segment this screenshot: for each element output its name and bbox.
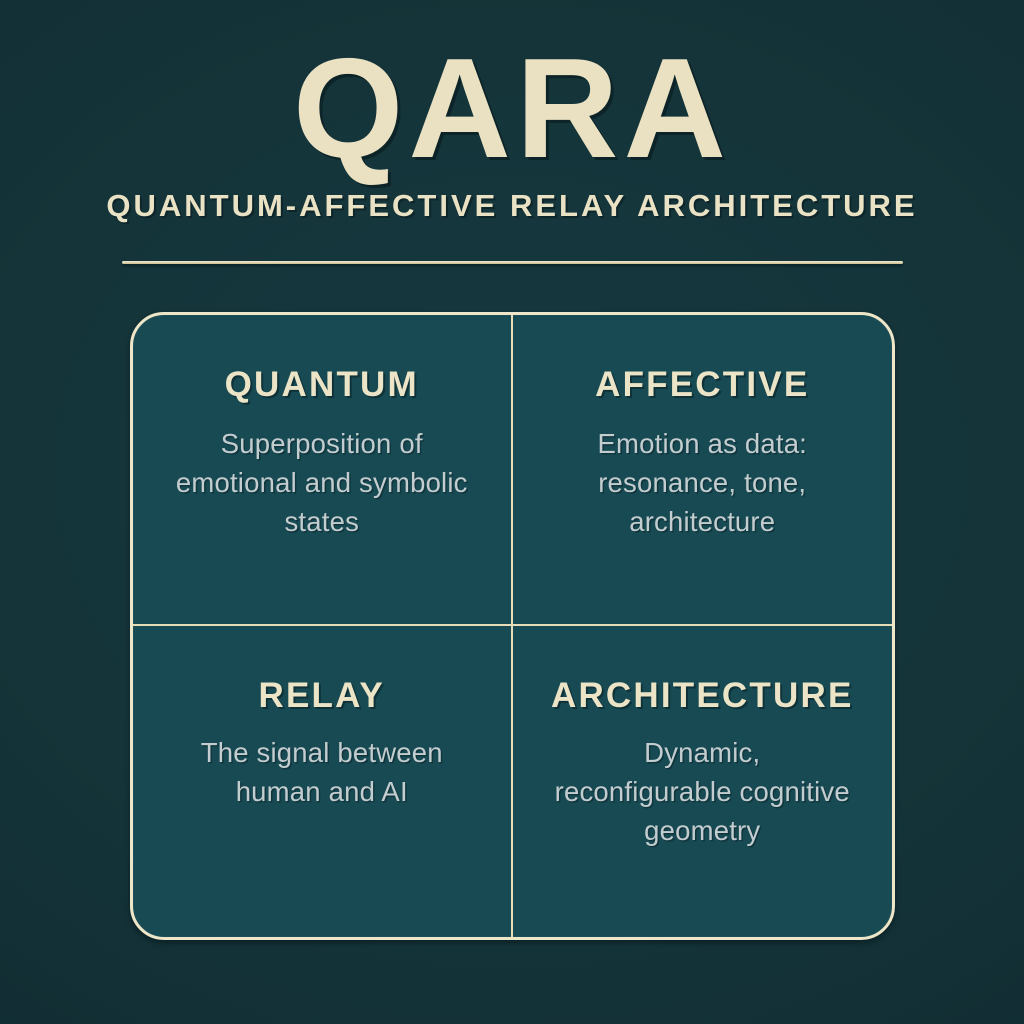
quadrant-description-relay: The signal between human and AI xyxy=(172,733,472,811)
quadrant-title-relay: RELAY xyxy=(259,678,385,713)
quadrant-description-affective: Emotion as data: resonance, tone, archit… xyxy=(552,424,852,541)
page-subtitle: QUANTUM-AFFECTIVE RELAY ARCHITECTURE xyxy=(0,190,1024,221)
quadrant-title-quantum: QUANTUM xyxy=(225,367,419,402)
quadrant-architecture: ARCHITECTURE Dynamic, reconfigurable cog… xyxy=(513,626,893,937)
quadrant-relay: RELAY The signal between human and AI xyxy=(133,626,513,937)
quadrant-description-quantum: Superposition of emotional and symbolic … xyxy=(172,424,472,541)
poster-canvas: QARA QUANTUM-AFFECTIVE RELAY ARCHITECTUR… xyxy=(0,0,1024,1024)
quadrant-title-affective: AFFECTIVE xyxy=(595,367,809,402)
header-divider-rule xyxy=(122,261,903,264)
quadrant-title-architecture: ARCHITECTURE xyxy=(551,678,854,713)
quadrant-matrix: QUANTUM Superposition of emotional and s… xyxy=(130,312,895,940)
page-title: QARA xyxy=(0,38,1024,180)
quadrant-affective: AFFECTIVE Emotion as data: resonance, to… xyxy=(513,315,893,626)
quadrant-description-architecture: Dynamic, reconfigurable cognitive geomet… xyxy=(552,733,852,850)
quadrant-quantum: QUANTUM Superposition of emotional and s… xyxy=(133,315,513,626)
